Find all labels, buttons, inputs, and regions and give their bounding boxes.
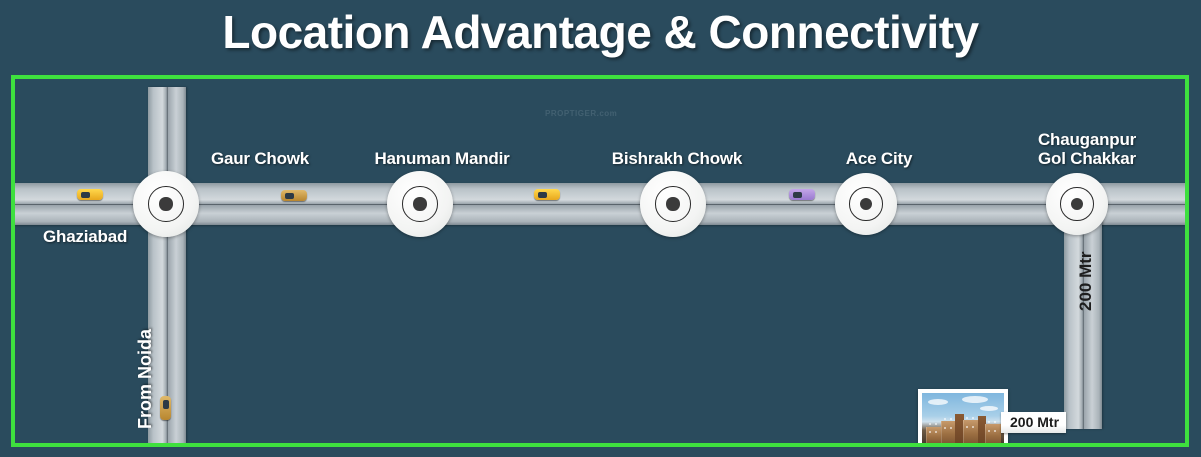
roundabout-chauganpur-gol-chakkar[interactable]: [1046, 173, 1108, 235]
label-ace-city: Ace City: [846, 149, 912, 168]
car-gold-gaur-chowk: [281, 190, 307, 201]
car-windshield: [793, 192, 802, 198]
project-building-image: [922, 393, 1004, 447]
car-yellow-hanuman-mandir: [534, 189, 560, 200]
location-map-graphic: Location Advantage & Connectivity PROPTI…: [0, 0, 1201, 457]
car-yellow-ghaziabad: [77, 189, 103, 200]
roundabout-ace-city[interactable]: [835, 173, 897, 235]
map-canvas: PROPTIGER.com Gaur Chowk Hanuman Mandir …: [15, 79, 1185, 443]
project-building-photo: [918, 389, 1008, 447]
label-from-noida: From Noida: [135, 329, 156, 429]
car-purple-ace-city: [789, 189, 815, 200]
roundabout-gaur-chowk[interactable]: [133, 171, 199, 237]
car-windshield: [538, 192, 547, 198]
car-windshield: [163, 400, 169, 409]
map-frame: PROPTIGER.com Gaur Chowk Hanuman Mandir …: [11, 75, 1189, 447]
label-chauganpur-gol-chakkar: Chauganpur Gol Chakkar: [1038, 130, 1136, 168]
label-bishrakh-chowk: Bishrakh Chowk: [612, 149, 742, 168]
roundabout-bishrakh-chowk[interactable]: [640, 171, 706, 237]
label-gaur-chowk: Gaur Chowk: [211, 149, 309, 168]
label-hanuman-mandir: Hanuman Mandir: [374, 149, 509, 168]
watermark-text: PROPTIGER.com: [545, 109, 617, 118]
distance-callout-label: 200 Mtr: [1001, 412, 1066, 433]
label-ghaziabad: Ghaziabad: [43, 227, 127, 246]
label-road-distance: 200 Mtr: [1076, 251, 1096, 311]
roundabout-hanuman-mandir[interactable]: [387, 171, 453, 237]
car-windshield: [81, 192, 90, 198]
car-windshield: [285, 193, 294, 199]
car-gold-noida-road: [160, 396, 171, 420]
page-title: Location Advantage & Connectivity: [0, 2, 1201, 62]
